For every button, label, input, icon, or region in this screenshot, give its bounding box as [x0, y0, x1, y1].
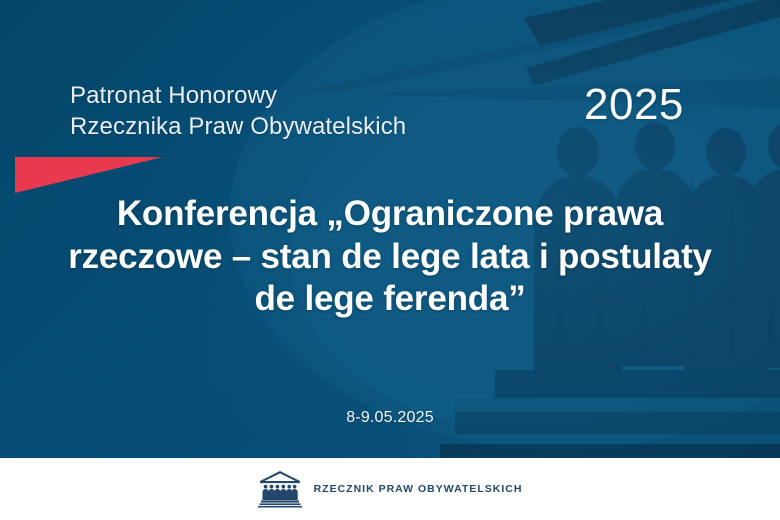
patronage-text: Patronat Honorowy Rzecznika Praw Obywate… — [70, 80, 406, 142]
conference-poster: Patronat Honorowy Rzecznika Praw Obywate… — [0, 0, 780, 520]
conference-date: 8-9.05.2025 — [60, 409, 720, 427]
building-step-bar — [440, 444, 780, 458]
poster-stage: Patronat Honorowy Rzecznika Praw Obywate… — [0, 0, 780, 458]
footer-bar: RZECZNIK PRAW OBYWATELSKICH — [0, 458, 780, 520]
classical-building-with-figures-icon — [258, 470, 302, 508]
rpo-logo: RZECZNIK PRAW OBYWATELSKICH — [258, 470, 523, 508]
year-label: 2025 — [584, 80, 684, 130]
red-triangle-accent — [15, 157, 163, 193]
building-step-bar — [495, 370, 780, 398]
logo-wordmark: RZECZNIK PRAW OBYWATELSKICH — [314, 483, 523, 495]
conference-title: Konferencja „Ograniczone prawa rzeczowe … — [60, 193, 720, 321]
